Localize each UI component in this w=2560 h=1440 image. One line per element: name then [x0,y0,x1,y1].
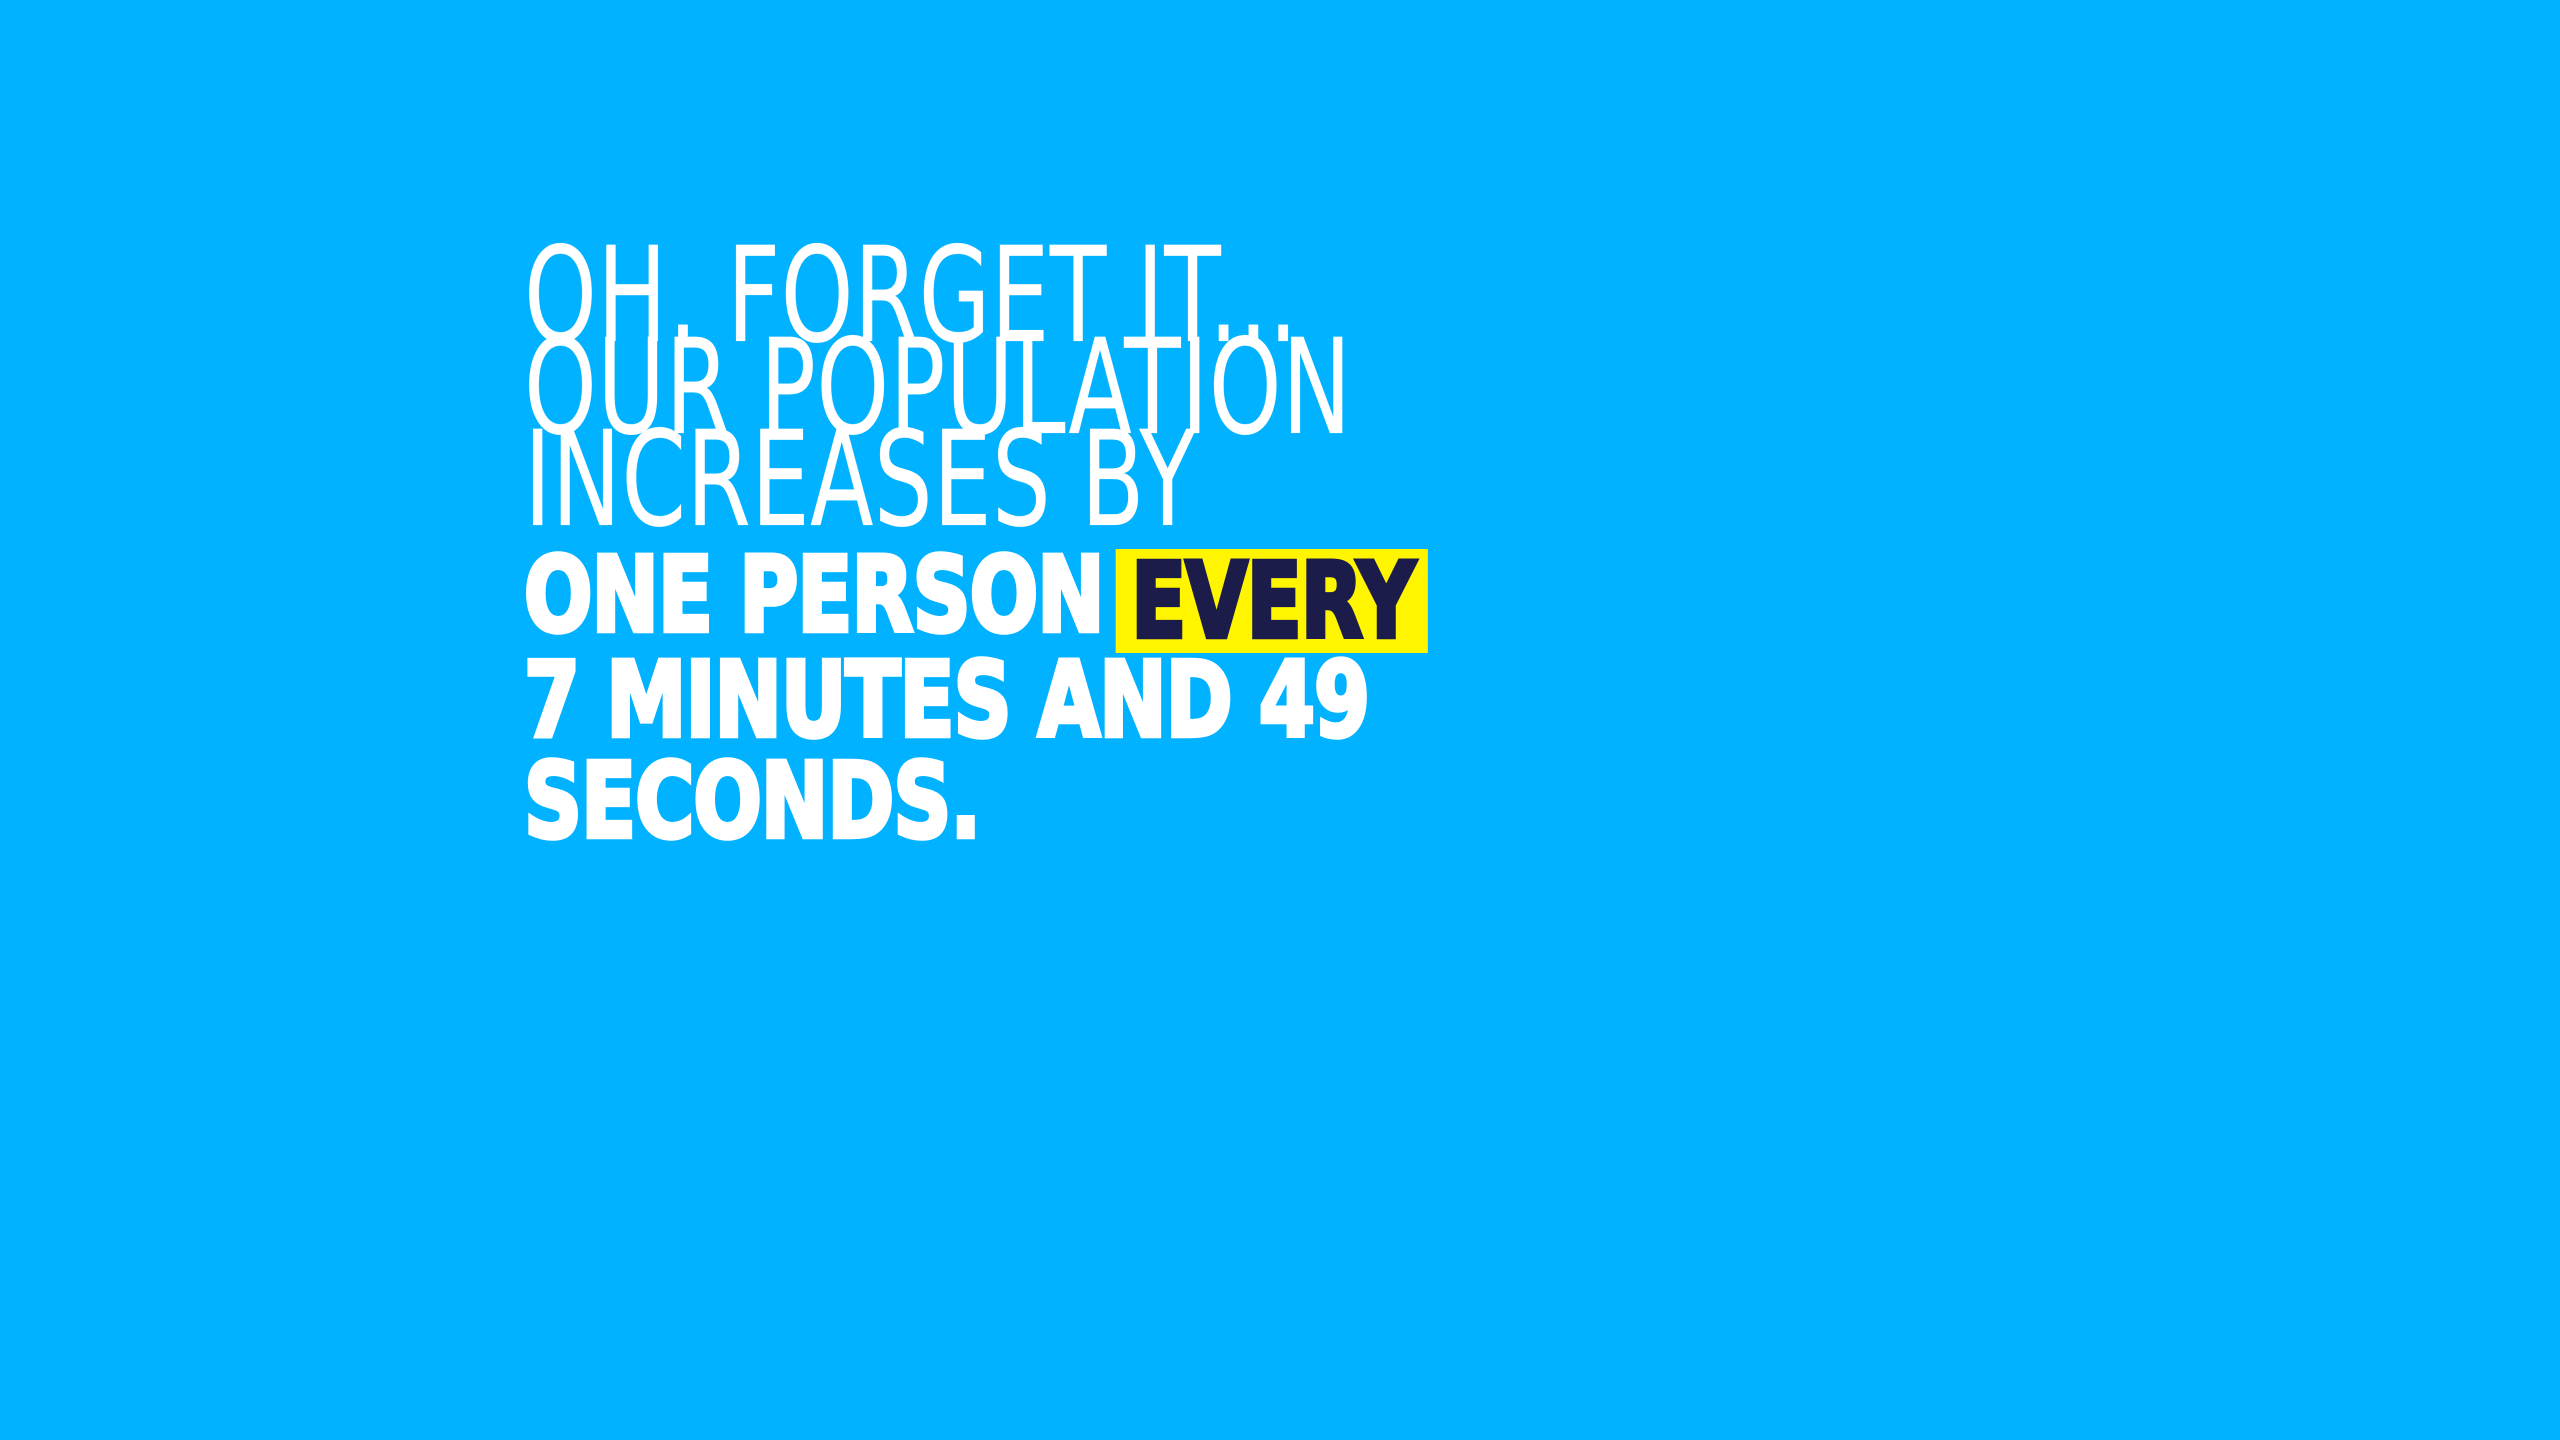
headline-heavy-line-2: 7 MINUTES AND 49 [524,650,2158,751]
highlight-chip-every: EVERY [1116,549,1429,653]
headline-light-line-3-text: INCREASES BY [524,434,1196,526]
headline-heavy-line-1-text: ONE PERSON [524,540,1104,650]
headline-heavy-line-3-text: SECONDS. [524,751,980,852]
slide-canvas: OH, FORGET IT... OUR POPULATION INCREASE… [0,0,2560,1440]
headline-heavy-line-3: SECONDS. [524,751,2158,852]
headline-light-line-3: INCREASES BY [524,434,2006,526]
headline-heavy-line-2-text: 7 MINUTES AND 49 [524,650,1369,751]
headline-heavy-line-1: ONE PERSONEVERY [524,540,2158,650]
headline-text-block: OH, FORGET IT... OUR POPULATION INCREASE… [524,250,2424,852]
